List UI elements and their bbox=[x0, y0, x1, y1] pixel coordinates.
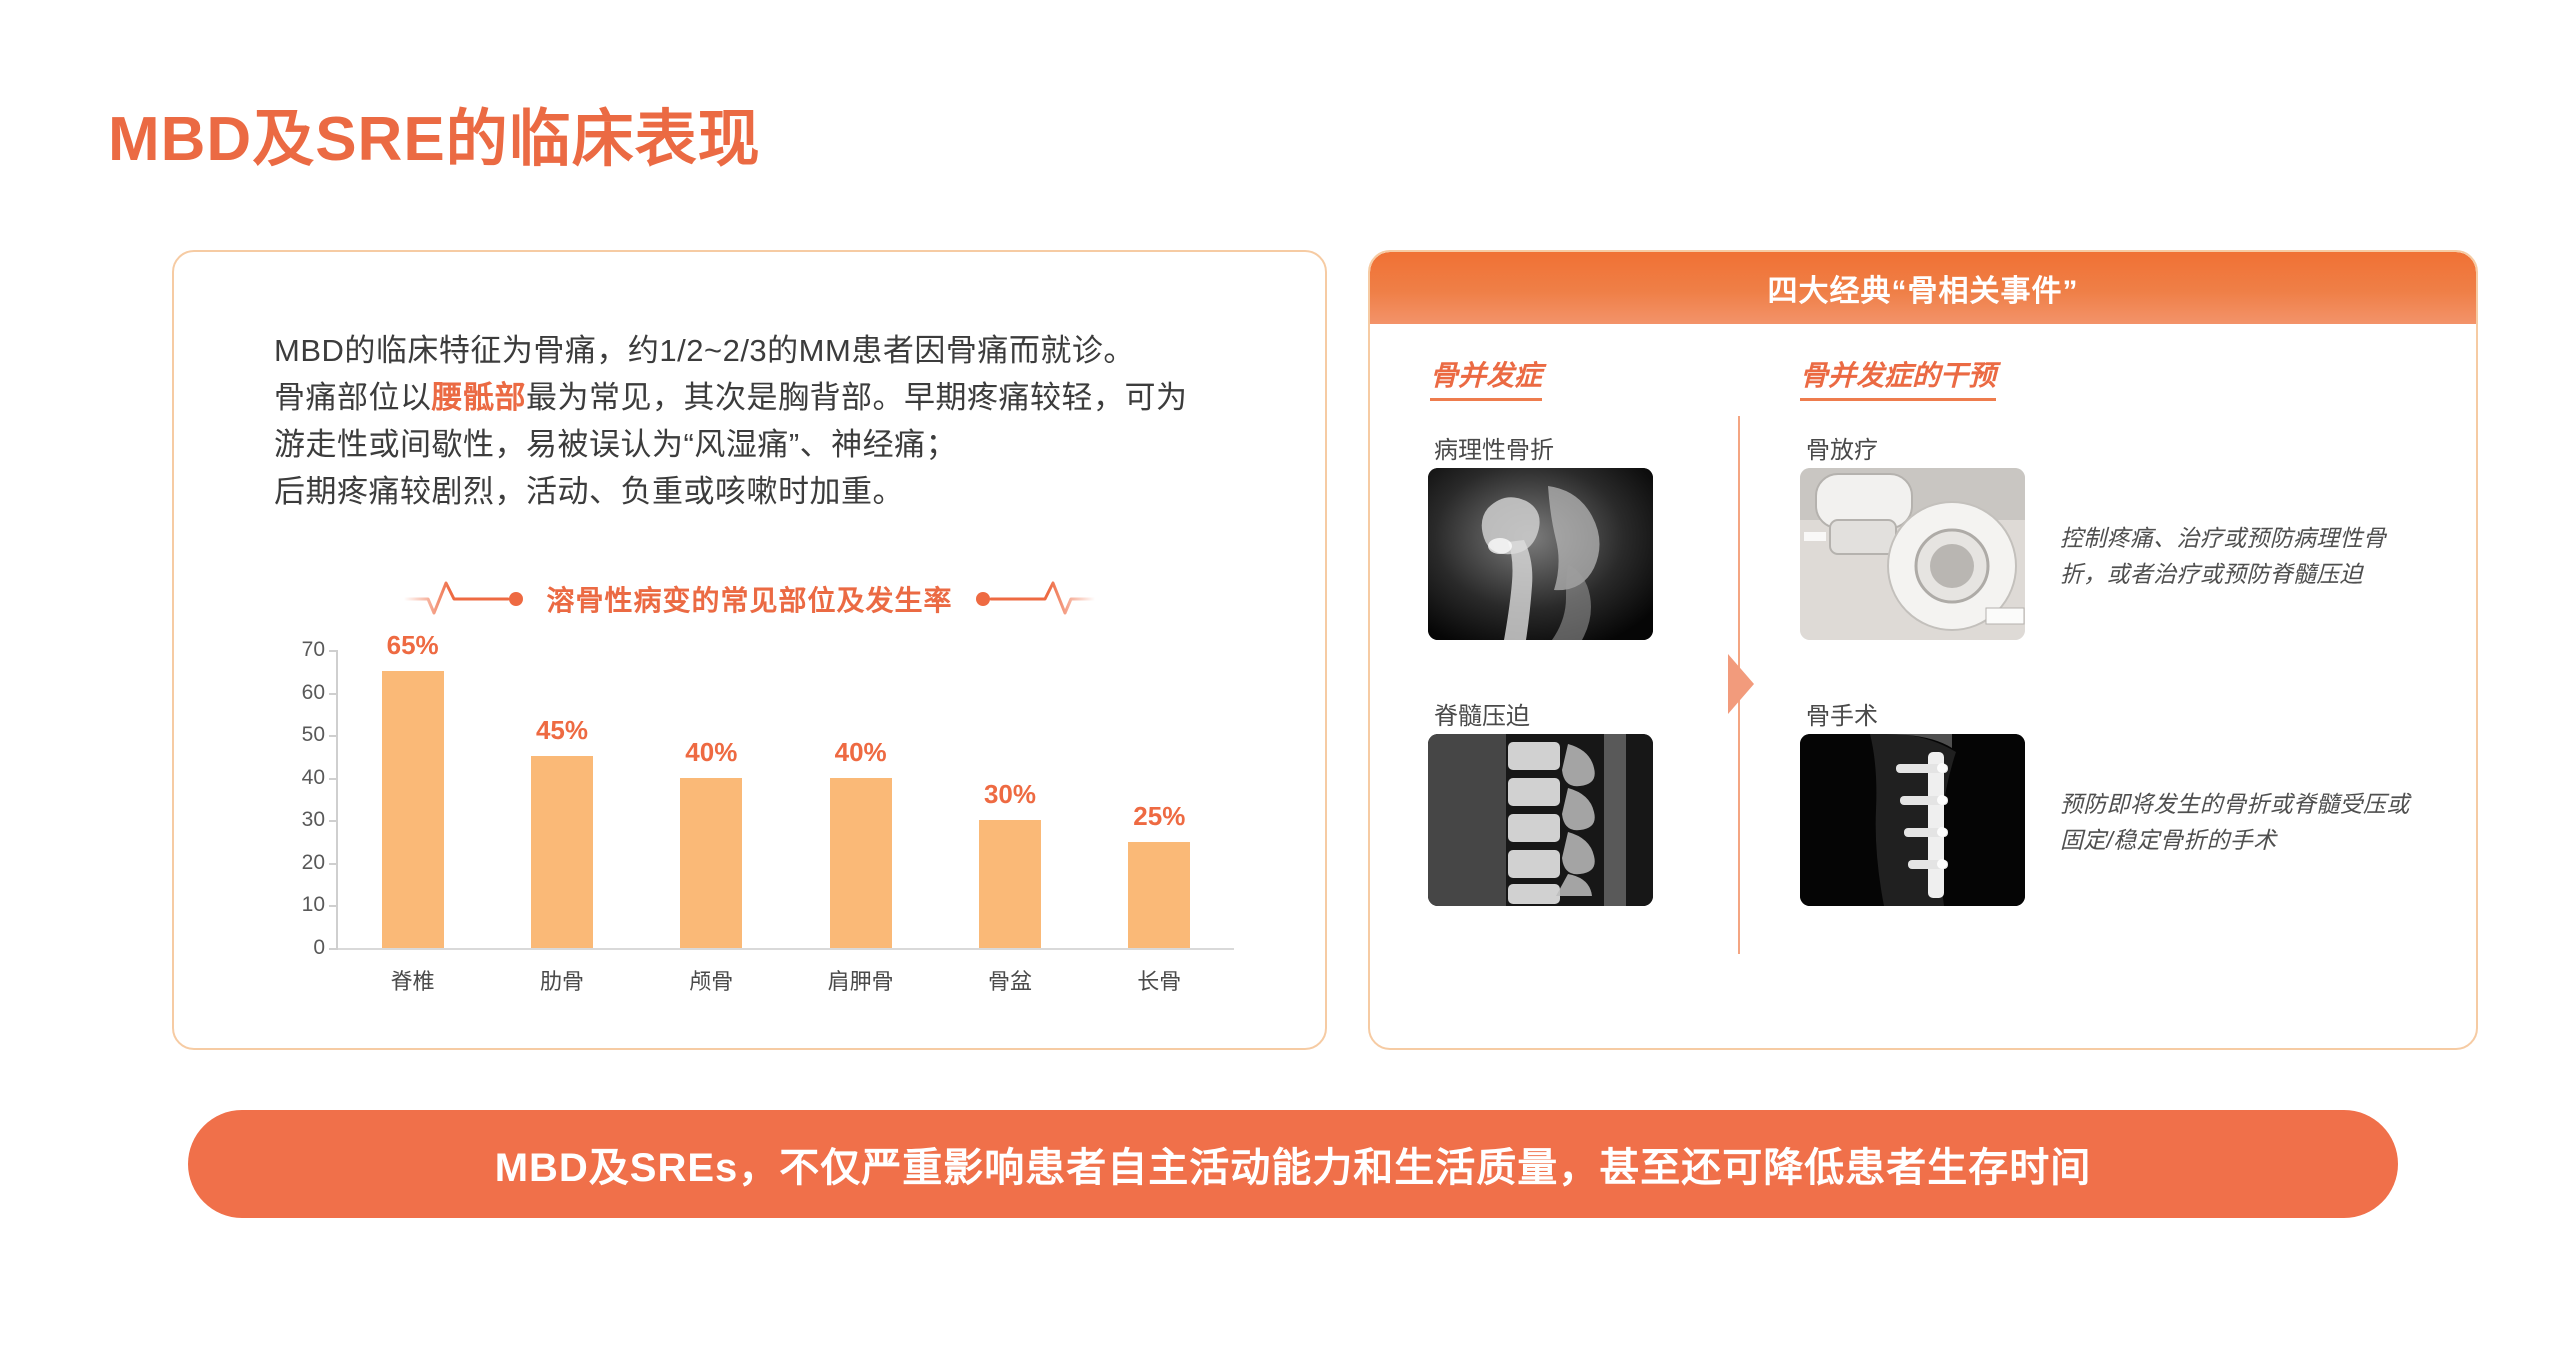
image-caption-bone-radiotherapy: 骨放疗 bbox=[1806, 430, 1878, 465]
skeletal-related-events-card: 四大经典“骨相关事件” 骨并发症 骨并发症的干预 病理性骨折 bbox=[1368, 250, 2478, 1050]
description-bone-surgery: 预防即将发生的骨折或脊髓受压或固定/稳定骨折的手术 bbox=[2060, 786, 2430, 858]
bar-group: 45% 肋骨 bbox=[497, 650, 627, 948]
radiotherapy-machine-image bbox=[1800, 468, 2025, 640]
bar-value-label: 45% bbox=[536, 715, 588, 746]
y-axis-tick: 20 bbox=[302, 851, 338, 875]
chart-title: 溶骨性病变的常见部位及发生率 bbox=[546, 579, 952, 619]
paragraph-line-2: 骨痛部位以腰骶部最为常见，其次是胸背部。早期疼痛较轻，可为 bbox=[274, 374, 1294, 421]
key-message-banner: MBD及SREs，不仅严重影响患者自主活动能力和生活质量，甚至还可降低患者生存时… bbox=[188, 1110, 2398, 1218]
spine-mri-image bbox=[1428, 734, 1653, 906]
column-title-complications: 骨并发症 bbox=[1430, 354, 1542, 401]
osteolytic-lesion-bar-chart: 70 60 50 40 30 20 10 0 65% 脊椎 45% 肋骨 bbox=[246, 642, 1256, 1002]
line2-post: 最为常见，其次是胸背部。早期疼痛较轻，可为 bbox=[526, 380, 1188, 415]
bar-value-label: 40% bbox=[685, 737, 737, 768]
hip-fracture-xray-image bbox=[1428, 468, 1653, 640]
paragraph-line-4: 后期疼痛较剧烈，活动、负重或咳嗽时加重。 bbox=[274, 468, 1294, 515]
y-axis-tick: 40 bbox=[302, 766, 338, 790]
y-axis-tick: 60 bbox=[302, 681, 338, 705]
bar bbox=[382, 671, 444, 948]
x-axis-label: 骨盆 bbox=[988, 964, 1032, 996]
bar-value-label: 25% bbox=[1133, 801, 1185, 832]
chart-plot-area: 70 60 50 40 30 20 10 0 65% 脊椎 45% 肋骨 bbox=[336, 650, 1234, 950]
line2-pre: 骨痛部位以 bbox=[274, 380, 432, 415]
flow-arrow-icon bbox=[1728, 654, 1754, 714]
x-axis-label: 肋骨 bbox=[540, 964, 584, 996]
bar bbox=[680, 778, 742, 948]
intro-paragraph: MBD的临床特征为骨痛，约1/2~2/3的MM患者因骨痛而就诊。 骨痛部位以腰骶… bbox=[274, 327, 1294, 515]
description-radiotherapy: 控制疼痛、治疗或预防病理性骨折，或者治疗或预防脊髓压迫 bbox=[2060, 520, 2430, 592]
paragraph-line-3: 游走性或间歇性，易被误认为“风湿痛”、神经痛； bbox=[274, 421, 1294, 468]
bar bbox=[830, 778, 892, 948]
image-caption-spinal-cord-compression: 脊髓压迫 bbox=[1434, 696, 1530, 731]
bar bbox=[531, 756, 593, 948]
highlight-lumbosacral: 腰骶部 bbox=[432, 380, 527, 415]
y-axis-tick: 0 bbox=[313, 936, 338, 960]
bar-value-label: 65% bbox=[387, 630, 439, 661]
x-axis-label: 肩胛骨 bbox=[828, 964, 894, 996]
sre-card-body: 骨并发症 骨并发症的干预 病理性骨折 骨放疗 bbox=[1370, 324, 2476, 1050]
column-title-interventions: 骨并发症的干预 bbox=[1800, 354, 1996, 401]
y-axis-tick: 50 bbox=[302, 723, 338, 747]
bar bbox=[979, 820, 1041, 948]
y-axis-tick: 70 bbox=[302, 638, 338, 662]
bar-value-label: 40% bbox=[835, 737, 887, 768]
clinical-features-card: MBD的临床特征为骨痛，约1/2~2/3的MM患者因骨痛而就诊。 骨痛部位以腰骶… bbox=[172, 250, 1327, 1050]
bar-series: 65% 脊椎 45% 肋骨 40% 颅骨 40% 肩胛骨 bbox=[338, 650, 1234, 948]
sre-card-header-title: 四大经典“骨相关事件” bbox=[1768, 266, 2079, 310]
ecg-pulse-left-icon bbox=[402, 577, 532, 621]
paragraph-line-1: MBD的临床特征为骨痛，约1/2~2/3的MM患者因骨痛而就诊。 bbox=[274, 327, 1294, 374]
y-axis-tick: 30 bbox=[302, 808, 338, 832]
bar-group: 25% 长骨 bbox=[1094, 650, 1224, 948]
chart-heading: 溶骨性病变的常见部位及发生率 bbox=[174, 577, 1325, 621]
bar-group: 65% 脊椎 bbox=[348, 650, 478, 948]
bone-surgery-xray-image bbox=[1800, 734, 2025, 906]
bar-group: 40% 颅骨 bbox=[646, 650, 776, 948]
x-axis-label: 颅骨 bbox=[689, 964, 733, 996]
ecg-pulse-right-icon bbox=[967, 577, 1097, 621]
bar-value-label: 30% bbox=[984, 779, 1036, 810]
image-caption-bone-surgery: 骨手术 bbox=[1806, 696, 1878, 731]
page-title: MBD及SRE的临床表现 bbox=[108, 88, 761, 178]
bar bbox=[1128, 842, 1190, 948]
x-axis-label: 脊椎 bbox=[391, 964, 435, 996]
bar-group: 40% 肩胛骨 bbox=[796, 650, 926, 948]
x-axis-label: 长骨 bbox=[1137, 964, 1181, 996]
bar-group: 30% 骨盆 bbox=[945, 650, 1075, 948]
sre-card-header: 四大经典“骨相关事件” bbox=[1370, 252, 2476, 324]
key-message-text: MBD及SREs，不仅严重影响患者自主活动能力和生活质量，甚至还可降低患者生存时… bbox=[495, 1135, 2092, 1193]
image-caption-pathologic-fracture: 病理性骨折 bbox=[1434, 430, 1554, 465]
y-axis-tick: 10 bbox=[302, 893, 338, 917]
